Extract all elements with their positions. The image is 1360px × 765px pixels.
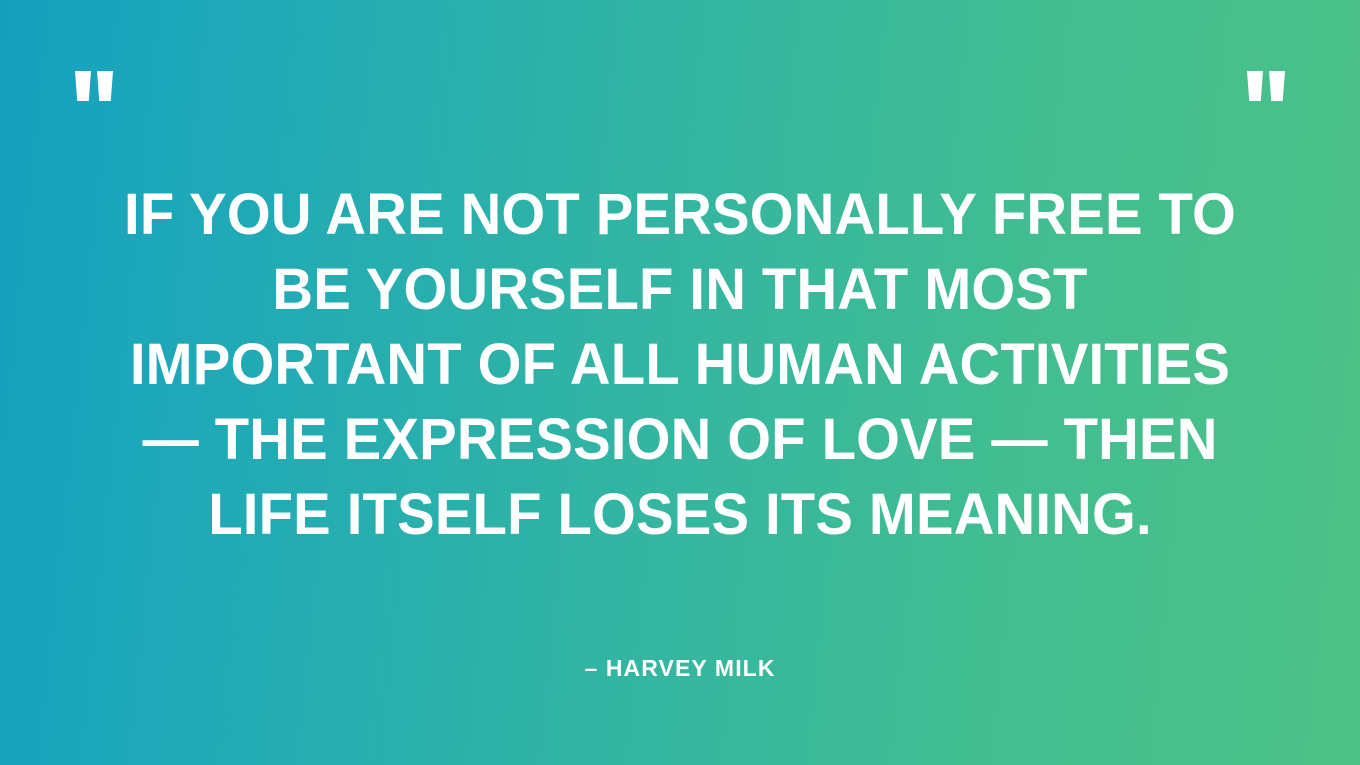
quote-line: BE YOURSELF IN THAT MOST <box>50 252 1311 327</box>
quote-mark-icon <box>75 71 113 101</box>
quote-card: IF YOU ARE NOT PERSONALLY FREE TO BE YOU… <box>0 0 1360 765</box>
quote-line: IF YOU ARE NOT PERSONALLY FREE TO <box>50 177 1311 252</box>
quote-line: IMPORTANT OF ALL HUMAN ACTIVITIES <box>50 327 1311 402</box>
quote-mark-tick <box>97 71 113 101</box>
quote-text: IF YOU ARE NOT PERSONALLY FREE TO BE YOU… <box>30 177 1330 552</box>
quote-mark-tick <box>1247 71 1263 101</box>
quote-line: LIFE ITSELF LOSES ITS MEANING. <box>50 477 1311 552</box>
quote-attribution: – HARVEY MILK <box>0 655 1360 682</box>
quote-line: — THE EXPRESSION OF LOVE — THEN <box>50 402 1311 477</box>
quote-mark-icon <box>1247 71 1285 101</box>
quote-mark-tick <box>75 71 91 101</box>
quote-mark-tick <box>1269 71 1285 101</box>
